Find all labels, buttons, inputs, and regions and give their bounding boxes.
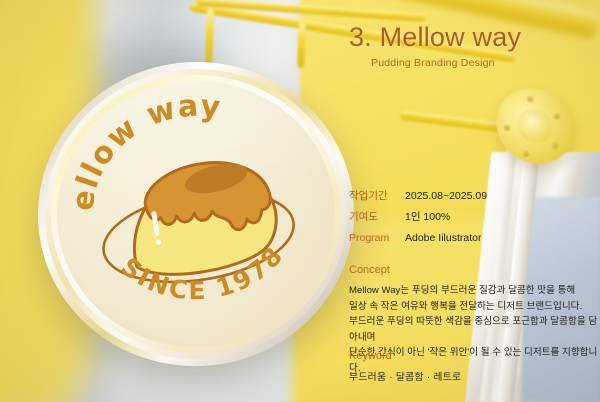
flange-bolt (553, 113, 560, 119)
flange-hub (516, 109, 555, 144)
meta-label-contribution: 기여도 (349, 211, 405, 223)
concept-heading: Concept (349, 264, 599, 276)
keyword-list: 부드러움 · 달콤함 · 레트로 (349, 369, 599, 383)
flange-bolt (552, 143, 559, 149)
keyword-heading: Keyword (349, 350, 599, 362)
meta-row: Program Adobe Iilustrator (349, 232, 599, 244)
screenshot-canvas: Mellow way SINCE 1978 (0, 0, 600, 402)
page-subtitle: Pudding Branding Design (349, 57, 595, 69)
keyword-section: Keyword 부드러움 · 달콤함 · 레트로 (349, 350, 599, 383)
meta-value-contribution: 1인 100% (405, 211, 450, 223)
brand-logo-artwork: Mellow way SINCE 1978 (48, 72, 344, 357)
meta-label-period: 작업기간 (349, 190, 405, 202)
sign-face: Mellow way SINCE 1978 (48, 72, 344, 357)
page-title: 3. Mellow way (349, 24, 595, 51)
meta-value-period: 2025.08~2025.09 (405, 190, 487, 202)
flange-bolt (527, 96, 534, 102)
concept-line: Mellow Way는 푸딩의 부드러운 질감과 달콤한 맛을 통해 (349, 283, 599, 299)
meta-row: 작업기간 2025.08~2025.09 (349, 190, 599, 202)
flange-bolt (504, 125, 511, 131)
project-meta-list: 작업기간 2025.08~2025.09 기여도 1인 100% Program… (349, 190, 599, 253)
flange-bolt (522, 151, 529, 157)
pudding-highlight (154, 214, 157, 234)
concept-line: 일상 속 작은 여유와 행복을 전달하는 디저트 브랜드입니다. (349, 299, 599, 315)
hanging-sign-board[interactable]: Mellow way SINCE 1978 (28, 51, 364, 376)
info-panel: 3. Mellow way Pudding Branding Design (349, 24, 595, 69)
meta-label-program: Program (349, 232, 405, 244)
meta-row: 기여도 1인 100% (349, 211, 599, 223)
meta-value-program: Adobe Iilustrator (405, 232, 481, 244)
concept-line: 부드러운 푸딩의 따뜻한 색감을 중심으로 포근함과 달콤함을 담아내며 (349, 314, 599, 345)
